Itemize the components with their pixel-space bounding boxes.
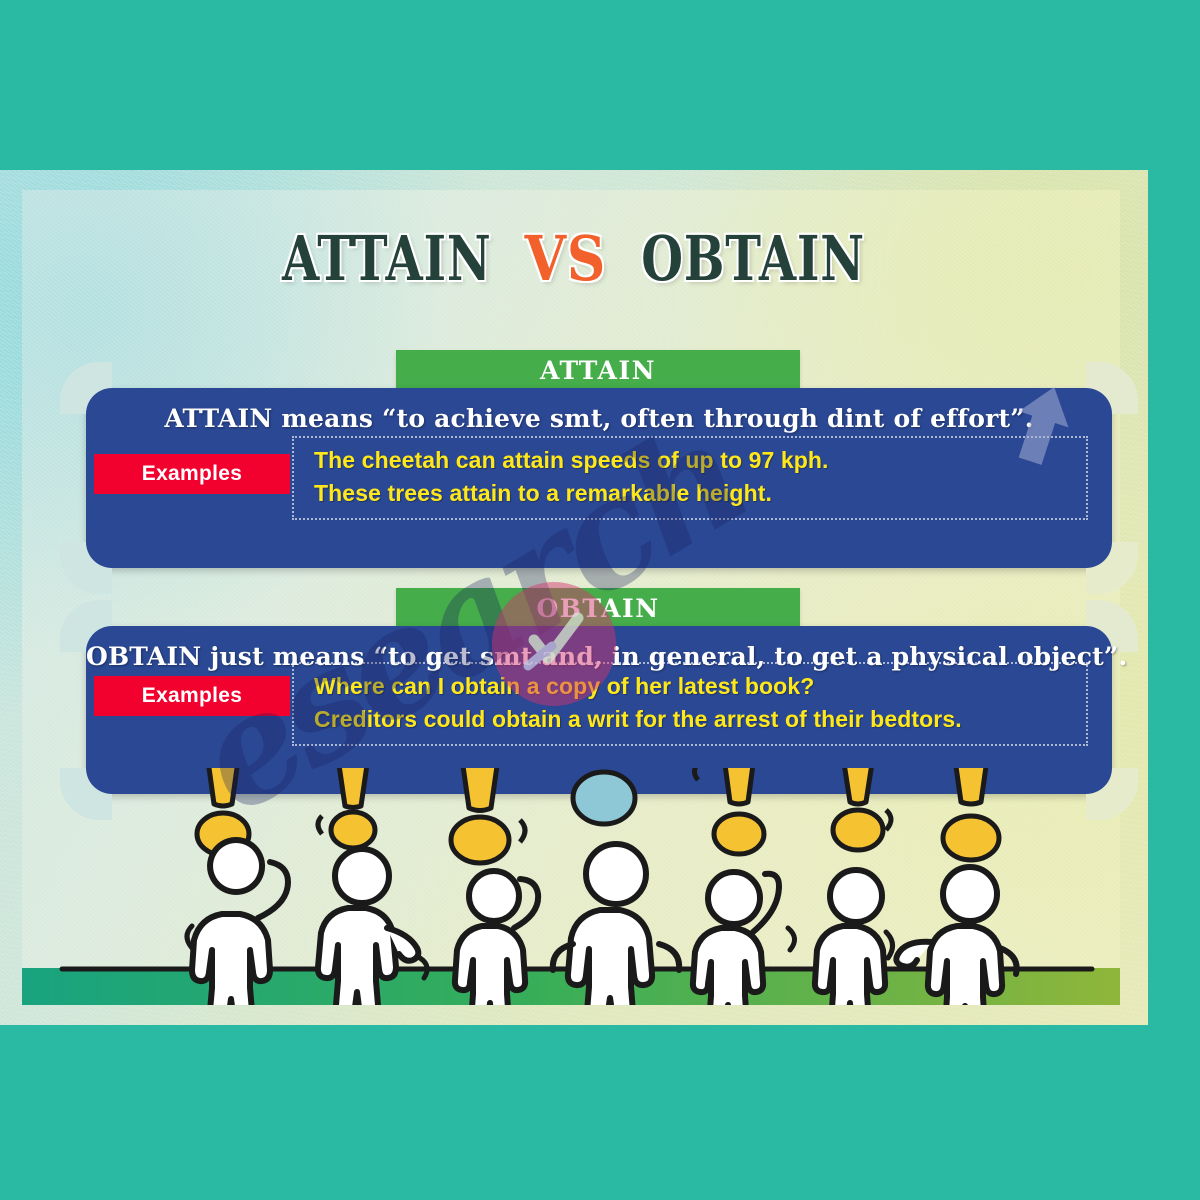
examples-box-attain: The cheetah can attain speeds of up to 9… (292, 436, 1088, 520)
infographic-card: ATTAINVSOBTAIN ATTAIN ATTAIN means “to a… (0, 170, 1148, 1025)
title-word-attain: ATTAIN (282, 222, 492, 295)
example-line: The cheetah can attain speeds of up to 9… (314, 444, 1076, 477)
definition-attain: ATTAIN means “to achieve smt, often thro… (86, 404, 1112, 433)
section-header-attain: ATTAIN (396, 350, 800, 392)
top-teal-border (0, 0, 1200, 170)
panel-notch-bottom-left (86, 542, 112, 568)
card-content: ATTAINVSOBTAIN ATTAIN ATTAIN means “to a… (0, 170, 1148, 1025)
examples-badge-obtain: Examples (94, 676, 290, 716)
page-title: ATTAINVSOBTAIN (0, 222, 1148, 295)
poster-root: ATTAINVSOBTAIN ATTAIN ATTAIN means “to a… (0, 0, 1200, 1200)
example-line: Creditors could obtain a writ for the ar… (314, 703, 1076, 736)
section-header-obtain: OBTAIN (396, 588, 800, 630)
stick-figure-illustration (22, 768, 1120, 1005)
right-teal-border (1148, 0, 1200, 1200)
title-word-obtain: OBTAIN (641, 222, 865, 295)
title-vs: VS (525, 222, 607, 295)
example-line: These trees attain to a remarkable heigh… (314, 477, 1076, 510)
bottom-teal-border (0, 1025, 1200, 1200)
panel-notch-bottom-right (1086, 542, 1112, 568)
section-panel-attain: ATTAIN means “to achieve smt, often thro… (86, 388, 1112, 568)
examples-badge-attain: Examples (94, 454, 290, 494)
examples-box-obtain: Where can I obtain a copy of her latest … (292, 662, 1088, 746)
example-line: Where can I obtain a copy of her latest … (314, 670, 1076, 703)
